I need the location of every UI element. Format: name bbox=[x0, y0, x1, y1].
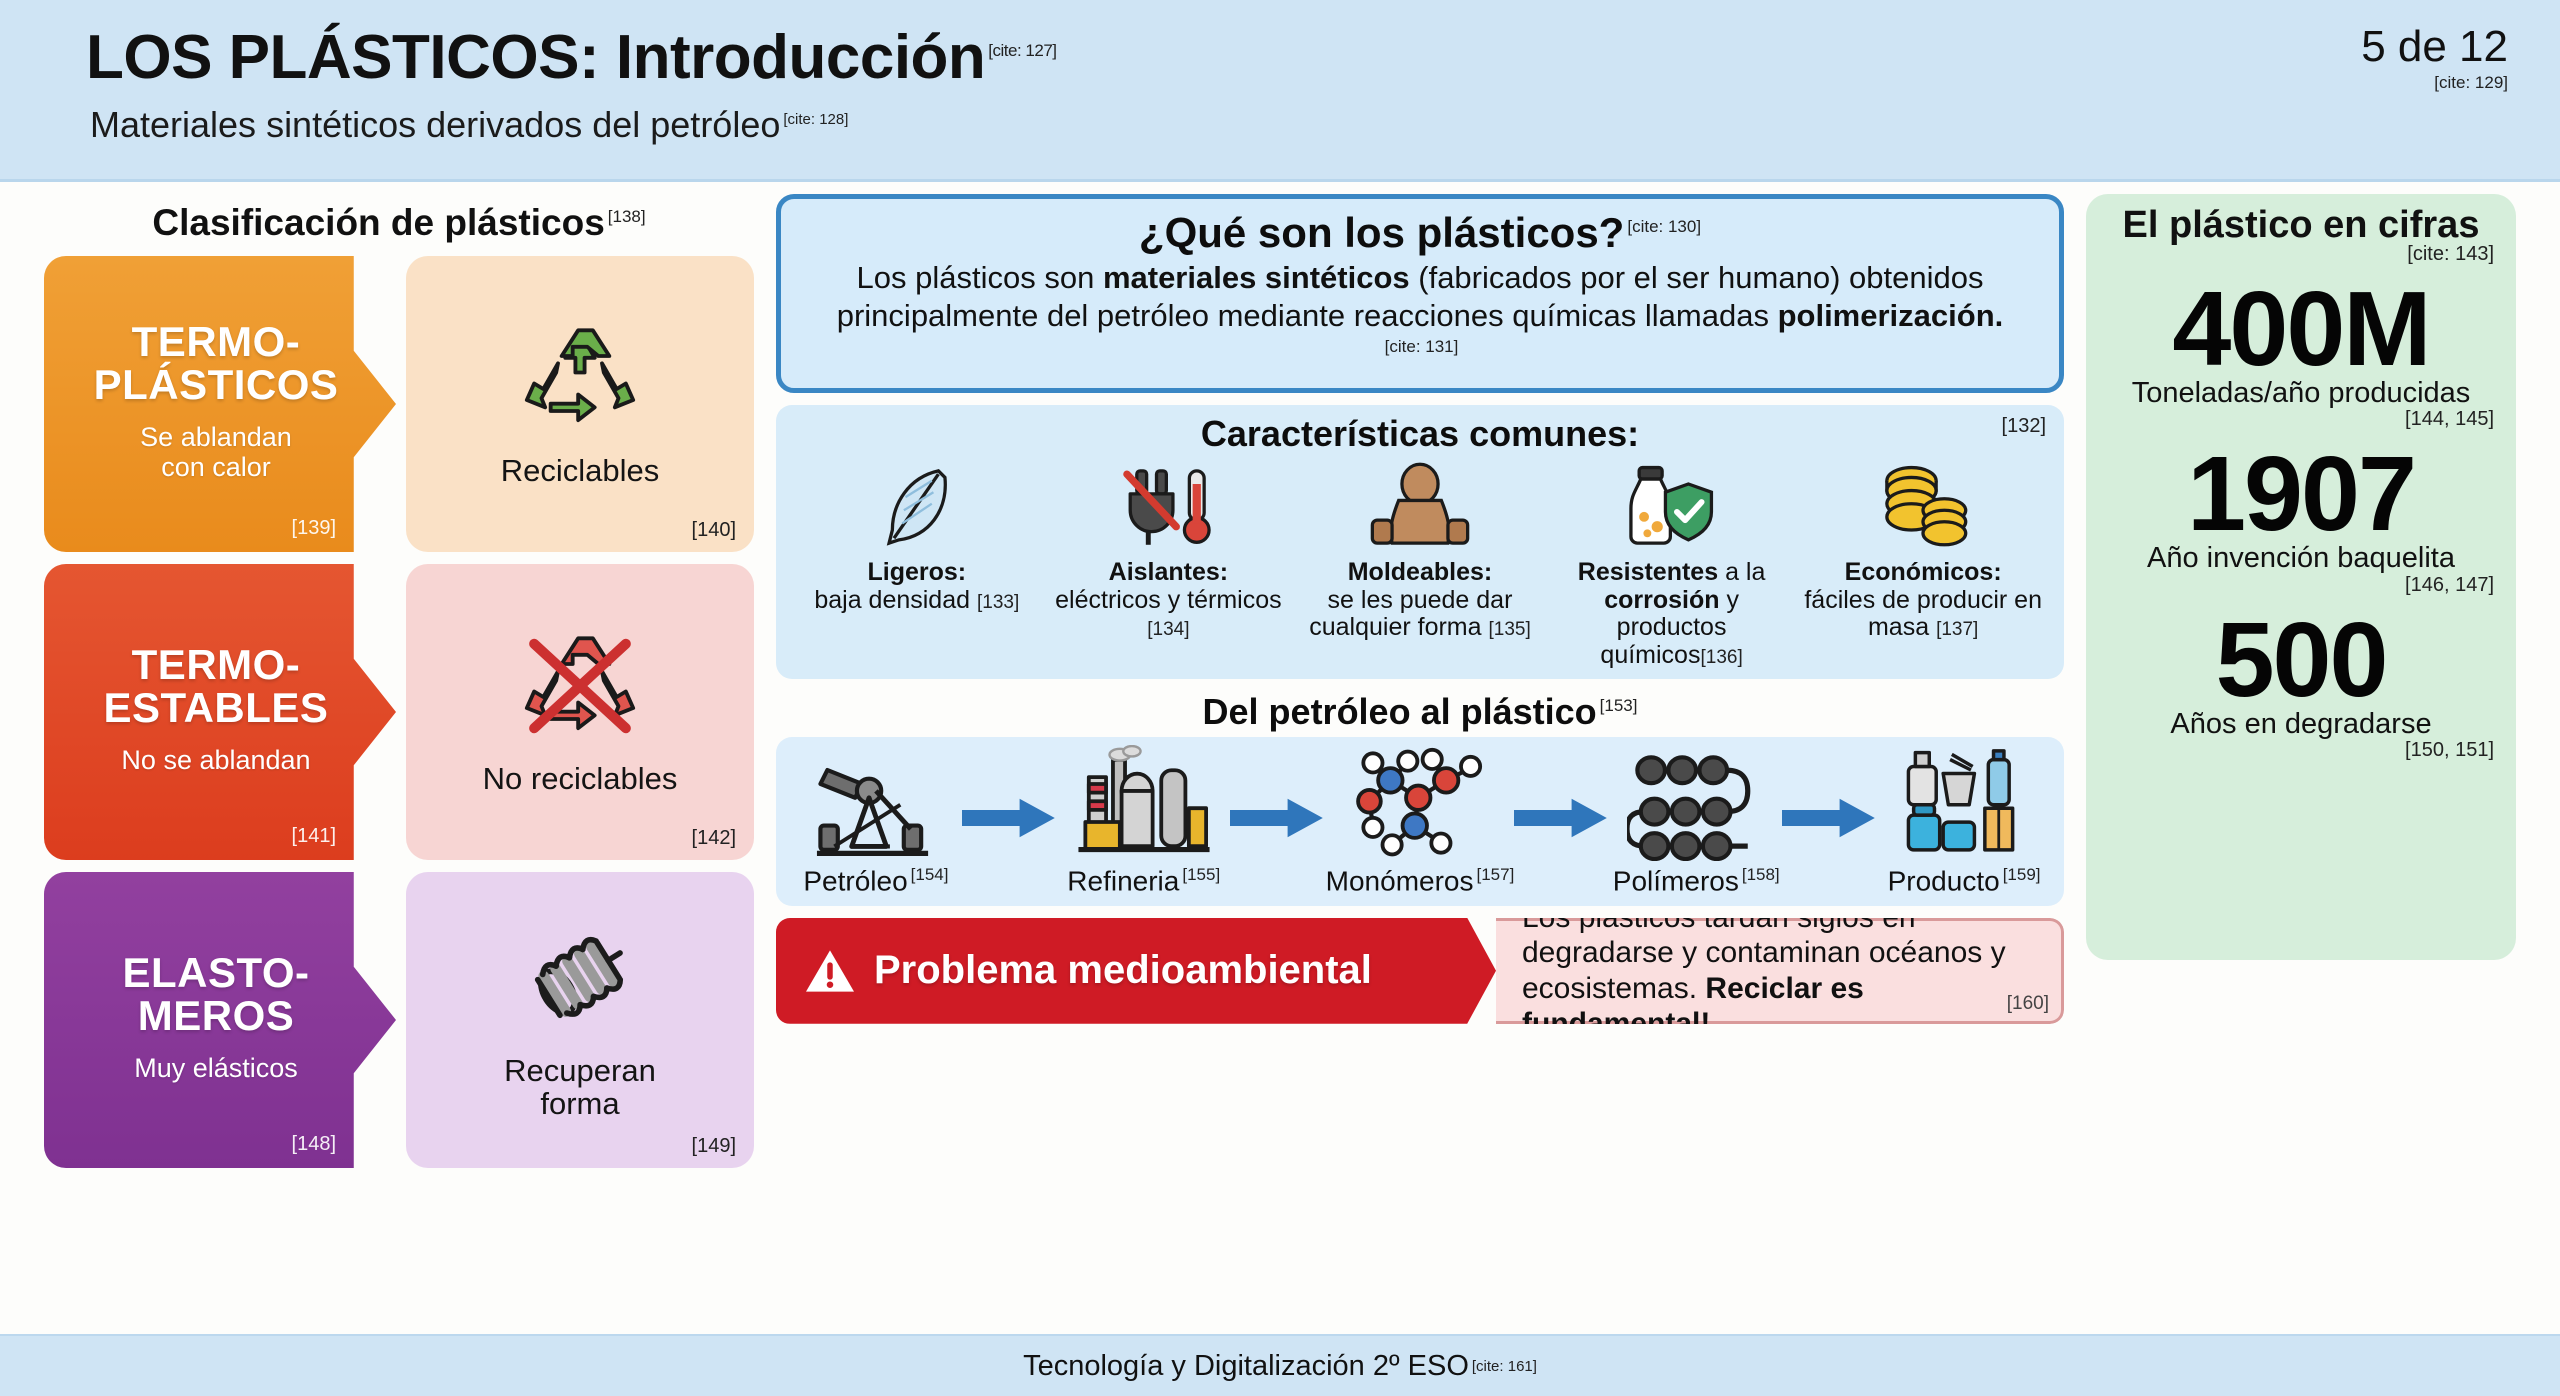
page-title-rest: Introducción bbox=[616, 23, 985, 92]
flow-step-label: Refineria[155] bbox=[1058, 865, 1230, 897]
stat-citation: [146, 147] bbox=[2108, 574, 2494, 597]
feature-resistentes: Resistentes a la corrosión y productos q… bbox=[1549, 457, 1795, 669]
page-subtitle: Materiales sintéticos derivados del petr… bbox=[90, 104, 848, 146]
page-indicator: 5 de 12 [cite: 129] bbox=[2361, 22, 2508, 93]
page-subtitle-text: Materiales sintéticos derivados del petr… bbox=[90, 104, 780, 145]
warning-message: Los plásticos tardan siglos en degradars… bbox=[1496, 918, 2064, 1024]
plug-thermo-icon bbox=[1046, 457, 1292, 553]
features-grid: Ligeros: baja densidad [133] bbox=[794, 457, 2046, 669]
arrow-right-icon bbox=[1230, 795, 1326, 846]
products-icon bbox=[1878, 743, 2050, 863]
card-citation: [142] bbox=[692, 827, 736, 850]
card-citation: [140] bbox=[692, 519, 736, 542]
tag-termoplasticos[interactable]: TERMO- PLÁSTICOS Se ablandan con calor [… bbox=[44, 256, 396, 552]
definition-text-citation: [cite: 131] bbox=[1385, 337, 1459, 356]
feature-citation: [136] bbox=[1700, 647, 1742, 668]
feature-text: Económicos: fáciles de producir en masa … bbox=[1800, 559, 2046, 642]
tag-citation: [141] bbox=[292, 825, 336, 848]
feature-label-bold: Ligeros: bbox=[867, 558, 966, 586]
feature-text: Moldeables: se les puede dar cualquier f… bbox=[1297, 559, 1543, 642]
monomer-icon bbox=[1326, 743, 1515, 863]
card-label: Recuperan forma bbox=[504, 1054, 656, 1121]
tag-name-line1: TERMO- bbox=[132, 318, 301, 365]
page-indicator-citation: [cite: 129] bbox=[2361, 73, 2508, 93]
arrow-right-icon bbox=[1782, 795, 1878, 846]
arrow-right-icon bbox=[962, 795, 1058, 846]
classification-rows: TERMO- PLÁSTICOS Se ablandan con calor [… bbox=[44, 256, 754, 1168]
flow-step-producto: Producto[159] bbox=[1878, 743, 2050, 897]
warning-badge: Problema medioambiental bbox=[776, 918, 1496, 1024]
feature-moldeables: Moldeables: se les puede dar cualquier f… bbox=[1297, 457, 1543, 669]
feature-citation: [137] bbox=[1936, 619, 1978, 640]
card-citation: [149] bbox=[692, 1135, 736, 1158]
card-reciclables[interactable]: Reciclables [140] bbox=[406, 256, 754, 552]
feature-label-rest: eléctricos y térmicos bbox=[1055, 586, 1281, 614]
definition-text-bold2: polimerización. bbox=[1778, 298, 2004, 333]
flow-step-monomeros: Monómeros[157] bbox=[1326, 743, 1515, 897]
page-title-citation: [cite: 127] bbox=[988, 41, 1056, 60]
definition-title-text: ¿Qué son los plásticos? bbox=[1139, 209, 1624, 256]
tag-description-line1: Muy elásticos bbox=[134, 1053, 298, 1083]
definition-title-citation: [cite: 130] bbox=[1627, 217, 1701, 236]
center-column: ¿Qué son los plásticos?[cite: 130] Los p… bbox=[776, 194, 2064, 1334]
stat-label: Año invención baquelita bbox=[2108, 543, 2494, 573]
feature-label-bold: Moldeables: bbox=[1348, 558, 1492, 586]
tag-name-line2: PLÁSTICOS bbox=[94, 361, 339, 408]
refinery-icon bbox=[1058, 743, 1230, 863]
flow-step-citation: [154] bbox=[911, 865, 949, 884]
footer-text: Tecnología y Digitalización 2º ESO bbox=[1023, 1350, 1469, 1383]
card-recuperan-forma[interactable]: Recuperan forma [149] bbox=[406, 872, 754, 1168]
card-no-reciclables[interactable]: No reciclables [142] bbox=[406, 564, 754, 860]
page-subtitle-citation: [cite: 128] bbox=[783, 111, 848, 128]
classification-heading: Clasificación de plásticos[138] bbox=[44, 202, 754, 244]
no-recycle-icon bbox=[521, 622, 639, 750]
flow-step-label: Monómeros[157] bbox=[1326, 865, 1515, 897]
feature-label-rest: fáciles de producir en masa bbox=[1804, 586, 2042, 642]
flow-step-citation: [158] bbox=[1742, 865, 1780, 884]
tag-description-line2: con calor bbox=[161, 452, 271, 482]
spring-icon bbox=[518, 914, 642, 1042]
definition-text: Los plásticos son materiales sintéticos … bbox=[811, 259, 2029, 372]
features-title: Características comunes: bbox=[794, 413, 2046, 455]
features-citation: [132] bbox=[2002, 415, 2046, 438]
classification-heading-text: Clasificación de plásticos bbox=[152, 202, 604, 243]
environmental-warning: Problema medioambiental Los plásticos ta… bbox=[776, 918, 2064, 1024]
tag-name: ELASTO- MEROS bbox=[122, 951, 309, 1038]
stat-item: 1907 Año invención baquelita [146, 147] bbox=[2108, 441, 2494, 596]
oil-pump-icon bbox=[790, 743, 962, 863]
flow-step-label-text: Refineria bbox=[1067, 866, 1179, 897]
feature-aislantes: Aislantes: eléctricos y térmicos [134] bbox=[1046, 457, 1292, 669]
flow-step-petroleo: Petróleo[154] bbox=[790, 743, 962, 897]
classification-row: TERMO- ESTABLES No se ablandan [141] bbox=[44, 564, 754, 860]
feature-citation: [135] bbox=[1488, 619, 1530, 640]
flow-row: Petróleo[154] bbox=[790, 743, 2050, 897]
flow-panel: Petróleo[154] bbox=[776, 737, 2064, 905]
classification-row: TERMO- PLÁSTICOS Se ablandan con calor [… bbox=[44, 256, 754, 552]
flow-step-label-text: Polímeros bbox=[1613, 866, 1739, 897]
card-label-line1: Recuperan bbox=[504, 1053, 656, 1088]
stat-value: 400M bbox=[2108, 276, 2494, 382]
page-indicator-value: 5 de 12 bbox=[2361, 22, 2508, 71]
stat-item: 400M Toneladas/año producidas [144, 145] bbox=[2108, 276, 2494, 431]
stats-title: El plástico en cifras bbox=[2108, 204, 2494, 247]
stats-panel: El plástico en cifras [cite: 143] 400M T… bbox=[2086, 194, 2516, 960]
feature-text: Ligeros: baja densidad [133] bbox=[794, 559, 1040, 614]
stat-citation: [144, 145] bbox=[2108, 408, 2494, 431]
tag-citation: [139] bbox=[292, 517, 336, 540]
definition-panel: ¿Qué son los plásticos?[cite: 130] Los p… bbox=[776, 194, 2064, 393]
feature-ligeros: Ligeros: baja densidad [133] bbox=[794, 457, 1040, 669]
feature-citation: [133] bbox=[977, 592, 1019, 613]
classification-column: Clasificación de plásticos[138] TERMO- P… bbox=[44, 194, 754, 1334]
definition-text-bold1: materiales sintéticos bbox=[1103, 260, 1410, 295]
tag-description: No se ablandan bbox=[121, 745, 310, 775]
warning-badge-label: Problema medioambiental bbox=[874, 948, 1372, 993]
slide-body: Clasificación de plásticos[138] TERMO- P… bbox=[0, 182, 2560, 1334]
clay-icon bbox=[1297, 457, 1543, 553]
page-title-bold: LOS PLÁSTICOS: bbox=[86, 23, 599, 92]
flow-step-citation: [155] bbox=[1182, 865, 1220, 884]
warning-triangle-icon bbox=[804, 947, 856, 995]
features-panel: [132] Características comunes: bbox=[776, 405, 2064, 679]
stat-citation: [150, 151] bbox=[2108, 739, 2494, 762]
card-label: Reciclables bbox=[501, 454, 660, 487]
tag-name: TERMO- ESTABLES bbox=[104, 643, 329, 730]
feature-label-rest: baja densidad bbox=[814, 586, 970, 614]
feature-label-rest: se les puede dar cualquier forma bbox=[1309, 586, 1512, 642]
tag-name-line1: ELASTO- bbox=[122, 949, 309, 996]
stat-value: 1907 bbox=[2108, 441, 2494, 547]
tag-name-line2: MEROS bbox=[138, 992, 295, 1039]
flow-step-citation: [157] bbox=[1477, 865, 1515, 884]
definition-text-part1: Los plásticos son bbox=[857, 260, 1103, 295]
card-label-line2: forma bbox=[540, 1086, 619, 1121]
flow-step-citation: [159] bbox=[2003, 865, 2041, 884]
polymer-icon bbox=[1610, 743, 1782, 863]
tag-description: Muy elásticos bbox=[134, 1053, 298, 1083]
recycle-icon bbox=[521, 314, 639, 442]
feature-label-bold2: corrosión bbox=[1604, 586, 1719, 614]
slide-root: LOS PLÁSTICOS: Introducción[cite: 127] M… bbox=[0, 0, 2560, 1396]
feature-label-mid: a la bbox=[1718, 558, 1765, 586]
flow-wrapper: Del petróleo al plástico[153] bbox=[776, 691, 2064, 905]
flow-step-polimeros: Polímeros[158] bbox=[1610, 743, 1782, 897]
flow-title: Del petróleo al plástico[153] bbox=[776, 691, 2064, 733]
slide-footer: Tecnología y Digitalización 2º ESO[cite:… bbox=[0, 1334, 2560, 1396]
feature-label-bold: Económicos: bbox=[1845, 558, 2002, 586]
stat-item: 500 Años en degradarse [150, 151] bbox=[2108, 607, 2494, 762]
tag-termoestables[interactable]: TERMO- ESTABLES No se ablandan [141] bbox=[44, 564, 396, 860]
tag-name-line1: TERMO- bbox=[132, 641, 301, 688]
slide-header: LOS PLÁSTICOS: Introducción[cite: 127] M… bbox=[0, 0, 2560, 182]
flow-step-label: Petróleo[154] bbox=[790, 865, 962, 897]
stats-column: El plástico en cifras [cite: 143] 400M T… bbox=[2086, 194, 2516, 1334]
flow-title-citation: [153] bbox=[1600, 696, 1638, 715]
tag-citation: [148] bbox=[292, 1133, 336, 1156]
coins-icon bbox=[1800, 457, 2046, 553]
tag-description-line1: No se ablandan bbox=[121, 745, 310, 775]
flow-step-label-text: Petróleo bbox=[803, 866, 907, 897]
flow-title-text: Del petróleo al plástico bbox=[1203, 691, 1597, 732]
stat-label: Años en degradarse bbox=[2108, 709, 2494, 739]
definition-title: ¿Qué son los plásticos?[cite: 130] bbox=[811, 209, 2029, 257]
flow-step-label-text: Producto bbox=[1888, 866, 2000, 897]
warning-citation: [160] bbox=[2007, 993, 2049, 1015]
shield-flask-icon bbox=[1549, 457, 1795, 553]
feature-citation: [134] bbox=[1147, 619, 1189, 640]
flow-step-label-text: Monómeros bbox=[1326, 866, 1474, 897]
feature-text: Resistentes a la corrosión y productos q… bbox=[1549, 559, 1795, 669]
tag-name: TERMO- PLÁSTICOS bbox=[94, 320, 339, 407]
stat-label: Toneladas/año producidas bbox=[2108, 378, 2494, 408]
stat-value: 500 bbox=[2108, 607, 2494, 713]
classification-heading-citation: [138] bbox=[608, 207, 646, 226]
flow-step-label: Producto[159] bbox=[1878, 865, 2050, 897]
flow-step-refineria: Refineria[155] bbox=[1058, 743, 1230, 897]
arrow-right-icon bbox=[1514, 795, 1610, 846]
feature-economicos: Económicos: fáciles de producir en masa … bbox=[1800, 457, 2046, 669]
footer-citation: [cite: 161] bbox=[1472, 1358, 1537, 1375]
flow-step-label: Polímeros[158] bbox=[1610, 865, 1782, 897]
warning-message-text: Los plásticos tardan siglos en degradars… bbox=[1522, 918, 2035, 1024]
feather-icon bbox=[794, 457, 1040, 553]
classification-row: ELASTO- MEROS Muy elásticos [148] bbox=[44, 872, 754, 1168]
tag-name-line2: ESTABLES bbox=[104, 684, 329, 731]
tag-description: Se ablandan con calor bbox=[140, 422, 292, 482]
feature-text: Aislantes: eléctricos y térmicos [134] bbox=[1046, 559, 1292, 642]
feature-label-bold: Aislantes: bbox=[1109, 558, 1228, 586]
feature-label-bold: Resistentes bbox=[1578, 558, 1718, 586]
tag-description-line1: Se ablandan bbox=[140, 422, 292, 452]
card-label: No reciclables bbox=[483, 762, 678, 795]
tag-elastomeros[interactable]: ELASTO- MEROS Muy elásticos [148] bbox=[44, 872, 396, 1168]
page-title: LOS PLÁSTICOS: Introducción[cite: 127] bbox=[86, 22, 1057, 93]
